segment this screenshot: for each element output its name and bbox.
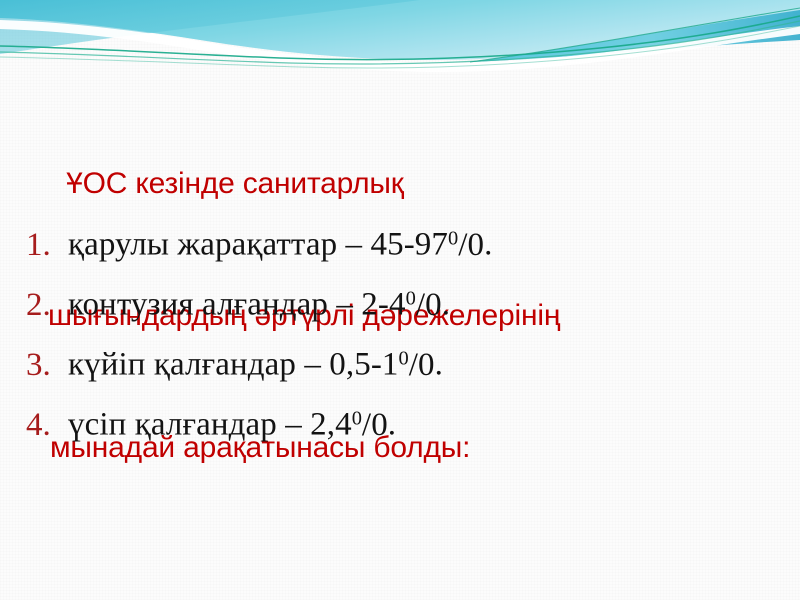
title-line-1: ҰОС кезінде санитарлық	[44, 162, 760, 206]
list-marker: 3.	[26, 345, 68, 385]
list-item: 3. күйіп қалғандар – 0,5-10/0.	[26, 338, 776, 398]
list-item-text: контузия алғандар – 2-40/0.	[68, 278, 776, 325]
list-item-trailing: .	[484, 227, 492, 263]
percent-symbol: 0/0	[448, 227, 484, 263]
list-item-text: күйіп қалғандар – 0,5-10/0.	[68, 338, 776, 385]
list-marker: 4.	[26, 405, 68, 445]
list-item-label: қарулы жарақаттар – 45-97	[68, 227, 448, 263]
list-item-label: үсіп қалғандар – 2,4	[68, 407, 352, 443]
list-item-label: контузия алғандар – 2-4	[68, 287, 406, 323]
percent-symbol: 0/0	[399, 347, 435, 383]
list-item: 4. үсіп қалғандар – 2,40/0.	[26, 398, 776, 458]
list-item-text: қарулы жарақаттар – 45-970/0.	[68, 218, 776, 265]
percent-symbol: 0/0	[352, 407, 388, 443]
list-item: 2. контузия алғандар – 2-40/0.	[26, 278, 776, 338]
list-item-label: күйіп қалғандар – 0,5-1	[68, 347, 399, 383]
list-item-trailing: .	[435, 347, 443, 383]
list-item-text: үсіп қалғандар – 2,40/0.	[68, 398, 776, 445]
list-marker: 2.	[26, 285, 68, 325]
list-item-trailing: .	[442, 287, 450, 323]
numbered-list: 1. қарулы жарақаттар – 45-970/0. 2. конт…	[26, 218, 776, 458]
slide-content: ҰОС кезінде санитарлық шығындардың әртүр…	[0, 0, 800, 600]
list-marker: 1.	[26, 225, 68, 265]
list-item-trailing: .	[388, 407, 396, 443]
presentation-slide: ҰОС кезінде санитарлық шығындардың әртүр…	[0, 0, 800, 600]
list-item: 1. қарулы жарақаттар – 45-970/0.	[26, 218, 776, 278]
percent-symbol: 0/0	[406, 287, 442, 323]
